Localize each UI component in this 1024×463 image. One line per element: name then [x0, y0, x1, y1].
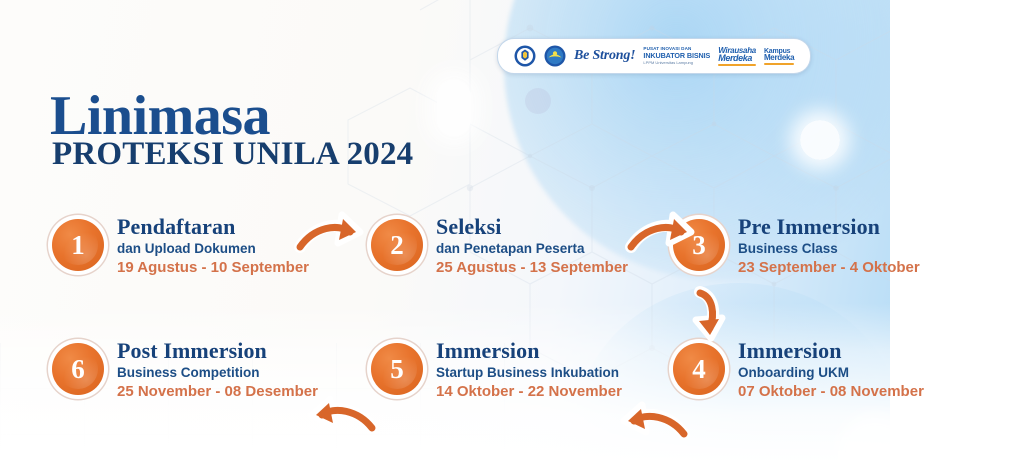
- step-subtitle-5: Startup Business Inkubation: [436, 366, 622, 380]
- accent-node-circle: [525, 88, 551, 114]
- arrow-step1-to-step2: [296, 213, 370, 261]
- step-badge-2: 2: [371, 219, 423, 271]
- step-number-1: 1: [71, 232, 85, 259]
- kampus-underline: [764, 63, 794, 65]
- step-date-4: 07 Oktober - 08 November: [738, 384, 924, 399]
- incubator-line3: LPPM Universitas Lampung: [643, 61, 710, 65]
- timeline-step-6: 6 Post Immersion Business Competition 25…: [52, 340, 318, 399]
- kampus-merdeka-logo: Kampus Merdeka: [764, 48, 794, 65]
- arrow-step5-to-step6: [300, 398, 380, 446]
- step-title-1: Pendaftaran: [117, 216, 309, 238]
- tut-wuri-handayani-crest-icon: [544, 45, 566, 67]
- kampus-line2: Merdeka: [764, 54, 794, 62]
- timeline-step-3: 3 Pre Immersion Business Class 23 Septem…: [673, 216, 920, 275]
- step-number-3: 3: [692, 232, 706, 259]
- step-number-4: 4: [692, 356, 706, 383]
- wirausaha-underline: [718, 64, 756, 66]
- step-date-3: 23 September - 4 Oktober: [738, 260, 920, 275]
- step-number-6: 6: [71, 356, 85, 383]
- timeline-step-5: 5 Immersion Startup Business Inkubation …: [371, 340, 622, 399]
- wirausaha-line2: Merdeka: [718, 54, 752, 63]
- step-subtitle-3: Business Class: [738, 242, 920, 256]
- background-soft-pill: [437, 80, 471, 136]
- timeline-step-1: 1 Pendaftaran dan Upload Dokumen 19 Agus…: [52, 216, 309, 275]
- step-number-5: 5: [390, 356, 404, 383]
- step-date-5: 14 Oktober - 22 November: [436, 384, 622, 399]
- step-date-1: 19 Agustus - 10 September: [117, 260, 309, 275]
- wirausaha-merdeka-logo: Wirausaha Merdeka: [718, 47, 756, 66]
- step-date-6: 25 November - 08 Desember: [117, 384, 318, 399]
- incubator-line2: INKUBATOR BISNIS: [643, 52, 710, 59]
- be-strong-logo-text: Be Strong!: [574, 48, 635, 64]
- step-badge-1: 1: [52, 219, 104, 271]
- incubator-logo: PUSAT INOVASI DAN INKUBATOR BISNIS LPPM …: [643, 47, 710, 65]
- unila-crest-icon: [514, 45, 536, 67]
- step-badge-4: 4: [673, 343, 725, 395]
- step-subtitle-2: dan Penetapan Peserta: [436, 242, 628, 256]
- step-title-5: Immersion: [436, 340, 622, 362]
- step-subtitle-1: dan Upload Dokumen: [117, 242, 309, 256]
- step-title-3: Pre Immersion: [738, 216, 920, 238]
- arrow-step3-to-step4: [686, 288, 734, 344]
- step-subtitle-4: Onboarding UKM: [738, 366, 924, 380]
- step-title-2: Seleksi: [436, 216, 628, 238]
- arrow-step4-to-step5: [612, 404, 692, 452]
- step-title-6: Post Immersion: [117, 340, 318, 362]
- page-subtitle: PROTEKSI UNILA 2024: [52, 138, 413, 171]
- step-title-4: Immersion: [738, 340, 924, 362]
- timeline-step-4: 4 Immersion Onboarding UKM 07 Oktober - …: [673, 340, 924, 399]
- step-badge-5: 5: [371, 343, 423, 395]
- step-date-2: 25 Agustus - 13 September: [436, 260, 628, 275]
- step-subtitle-6: Business Competition: [117, 366, 318, 380]
- step-number-2: 2: [390, 232, 404, 259]
- timeline-step-2: 2 Seleksi dan Penetapan Peserta 25 Agust…: [371, 216, 628, 275]
- arrow-step2-to-step3: [627, 213, 701, 261]
- logo-bar: Be Strong! PUSAT INOVASI DAN INKUBATOR B…: [497, 38, 811, 74]
- step-badge-6: 6: [52, 343, 104, 395]
- background-soft-circle: [800, 120, 840, 160]
- timeline-poster: Be Strong! PUSAT INOVASI DAN INKUBATOR B…: [0, 0, 1024, 463]
